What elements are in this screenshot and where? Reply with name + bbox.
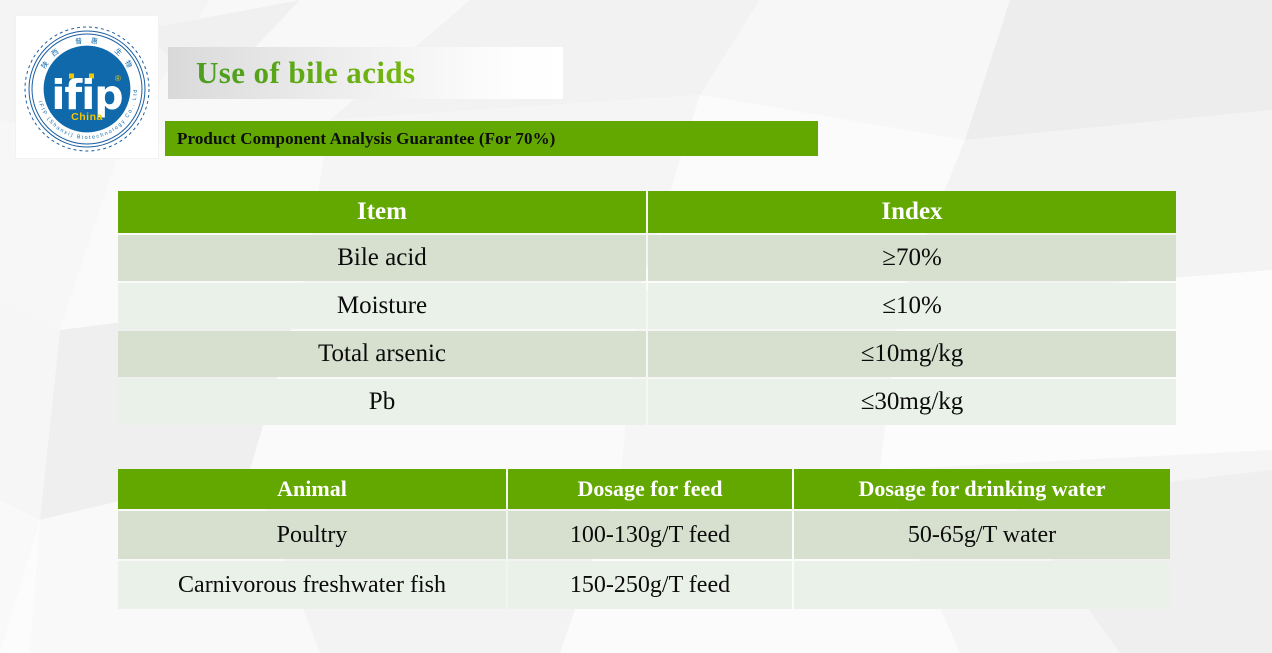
cell-item: Total arsenic xyxy=(118,331,646,377)
cell-animal: Carnivorous freshwater fish xyxy=(118,561,506,609)
table-row: Poultry 100-130g/T feed 50-65g/T water xyxy=(118,511,1170,559)
cell-animal: Poultry xyxy=(118,511,506,559)
table-row: Total arsenic ≤10mg/kg xyxy=(118,331,1176,377)
cell-dosage-water: 50-65g/T water xyxy=(794,511,1170,559)
table-row: Carnivorous freshwater fish 150-250g/T f… xyxy=(118,561,1170,609)
column-header-item: Item xyxy=(118,191,646,233)
column-header-dosage-feed: Dosage for feed xyxy=(508,469,792,509)
svg-text:®: ® xyxy=(115,74,121,83)
cell-index: ≤10% xyxy=(648,283,1176,329)
cell-item: Bile acid xyxy=(118,235,646,281)
cell-index: ≤30mg/kg xyxy=(648,379,1176,425)
cell-dosage-feed: 100-130g/T feed xyxy=(508,511,792,559)
dosage-recommendation-table: Animal Dosage for feed Dosage for drinki… xyxy=(116,467,1172,611)
cell-index: ≥70% xyxy=(648,235,1176,281)
company-logo: 陕西 普惠 生物 IFIP (Shanxi) Biotechnology Co.… xyxy=(16,16,158,158)
table-row: Moisture ≤10% xyxy=(118,283,1176,329)
cell-dosage-water xyxy=(794,561,1170,609)
cell-item: Moisture xyxy=(118,283,646,329)
table-header-row: Animal Dosage for feed Dosage for drinki… xyxy=(118,469,1170,509)
page-title: Use of bile acids xyxy=(196,55,416,91)
table-row: Pb ≤30mg/kg xyxy=(118,379,1176,425)
section-banner: Product Component Analysis Guarantee (Fo… xyxy=(165,121,818,156)
title-banner-background: Use of bile acids xyxy=(168,47,563,99)
product-component-analysis-table: Item Index Bile acid ≥70% Moisture ≤10% … xyxy=(116,189,1178,427)
section-banner-label: Product Component Analysis Guarantee (Fo… xyxy=(177,129,555,149)
cell-index: ≤10mg/kg xyxy=(648,331,1176,377)
slide-canvas: 陕西 普惠 生物 IFIP (Shanxi) Biotechnology Co.… xyxy=(0,0,1272,653)
table-row: Bile acid ≥70% xyxy=(118,235,1176,281)
svg-text:China: China xyxy=(71,111,103,123)
column-header-index: Index xyxy=(648,191,1176,233)
cell-item: Pb xyxy=(118,379,646,425)
ifip-china-seal-icon: 陕西 普惠 生物 IFIP (Shanxi) Biotechnology Co.… xyxy=(16,16,158,158)
table-header-row: Item Index xyxy=(118,191,1176,233)
column-header-animal: Animal xyxy=(118,469,506,509)
cell-dosage-feed: 150-250g/T feed xyxy=(508,561,792,609)
column-header-dosage-water: Dosage for drinking water xyxy=(794,469,1170,509)
